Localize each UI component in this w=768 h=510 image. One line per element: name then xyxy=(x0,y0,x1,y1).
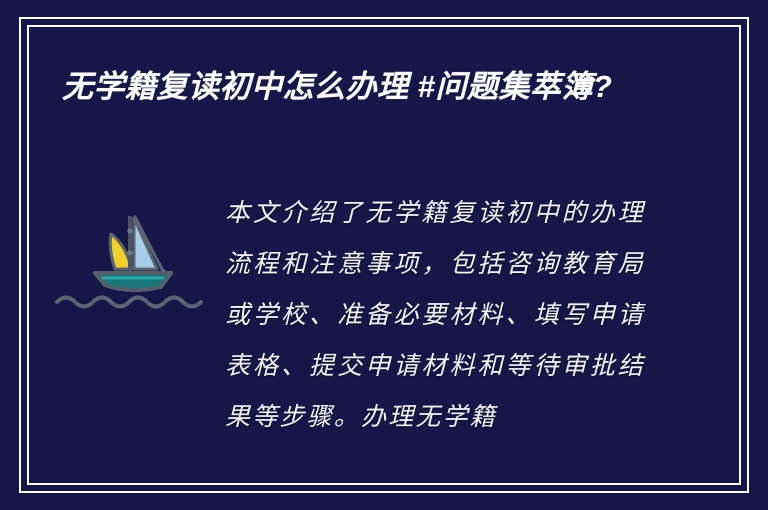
article-summary-text: 本文介绍了无学籍复读初中的办理流程和注意事项，包括咨询教育局或学校、准备必要材料… xyxy=(225,187,645,442)
card-content: 无学籍复读初中怎么办理 #问题集萃簿? xyxy=(29,27,739,483)
page-title: 无学籍复读初中怎么办理 #问题集萃簿? xyxy=(62,64,662,110)
article-cover-card: 无学籍复读初中怎么办理 #问题集萃簿? xyxy=(0,0,768,510)
body-block: 本文介绍了无学籍复读初中的办理流程和注意事项，包括咨询教育局或学校、准备必要材料… xyxy=(29,187,739,483)
sailboat-icon xyxy=(51,201,211,311)
